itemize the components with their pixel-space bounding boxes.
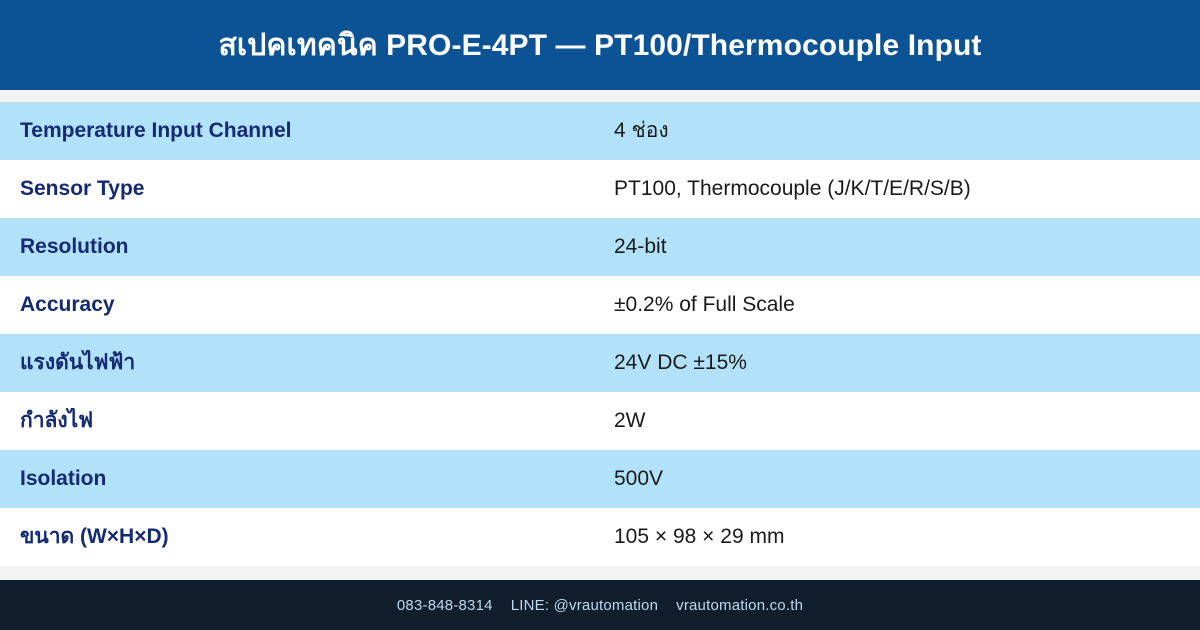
spec-label: Temperature Input Channel: [0, 118, 614, 143]
spec-value: 105 × 98 × 29 mm: [614, 524, 1200, 549]
table-row: ขนาด (W×H×D) 105 × 98 × 29 mm: [0, 508, 1200, 566]
table-row: Isolation 500V: [0, 450, 1200, 508]
spec-value: 2W: [614, 408, 1200, 433]
spec-value: PT100, Thermocouple (J/K/T/E/R/S/B): [614, 176, 1200, 201]
spec-value: 500V: [614, 466, 1200, 491]
spec-label: ขนาด (W×H×D): [0, 524, 614, 549]
table-row: กำลังไฟ 2W: [0, 392, 1200, 450]
spec-label: Sensor Type: [0, 176, 614, 201]
footer-website[interactable]: vrautomation.co.th: [676, 597, 803, 614]
table-row: Accuracy ±0.2% of Full Scale: [0, 276, 1200, 334]
spec-value: ±0.2% of Full Scale: [614, 292, 1200, 317]
table-row: Temperature Input Channel 4 ช่อง: [0, 102, 1200, 160]
table-row: Sensor Type PT100, Thermocouple (J/K/T/E…: [0, 160, 1200, 218]
spec-label: กำลังไฟ: [0, 408, 614, 433]
spec-table: Temperature Input Channel 4 ช่อง Sensor …: [0, 90, 1200, 580]
spec-label: Accuracy: [0, 292, 614, 317]
footer-phone[interactable]: 083-848-8314: [397, 597, 493, 614]
page-header: สเปคเทคนิค PRO-E-4PT — PT100/Thermocoupl…: [0, 0, 1200, 90]
spec-value: 4 ช่อง: [614, 118, 1200, 143]
footer-contact-group: 083-848-8314 LINE: @vrautomation vrautom…: [397, 597, 803, 614]
table-bottom-spacer: [0, 566, 1200, 580]
spec-sheet-page: สเปคเทคนิค PRO-E-4PT — PT100/Thermocoupl…: [0, 0, 1200, 630]
spec-value: 24V DC ±15%: [614, 350, 1200, 375]
page-footer: 083-848-8314 LINE: @vrautomation vrautom…: [0, 580, 1200, 630]
footer-line-id[interactable]: LINE: @vrautomation: [511, 597, 658, 614]
spec-label: Resolution: [0, 234, 614, 259]
table-row: Resolution 24-bit: [0, 218, 1200, 276]
spec-value: 24-bit: [614, 234, 1200, 259]
page-title: สเปคเทคนิค PRO-E-4PT — PT100/Thermocoupl…: [218, 29, 981, 62]
spec-label: Isolation: [0, 466, 614, 491]
spec-label: แรงดันไฟฟ้า: [0, 350, 614, 375]
table-row: แรงดันไฟฟ้า 24V DC ±15%: [0, 334, 1200, 392]
